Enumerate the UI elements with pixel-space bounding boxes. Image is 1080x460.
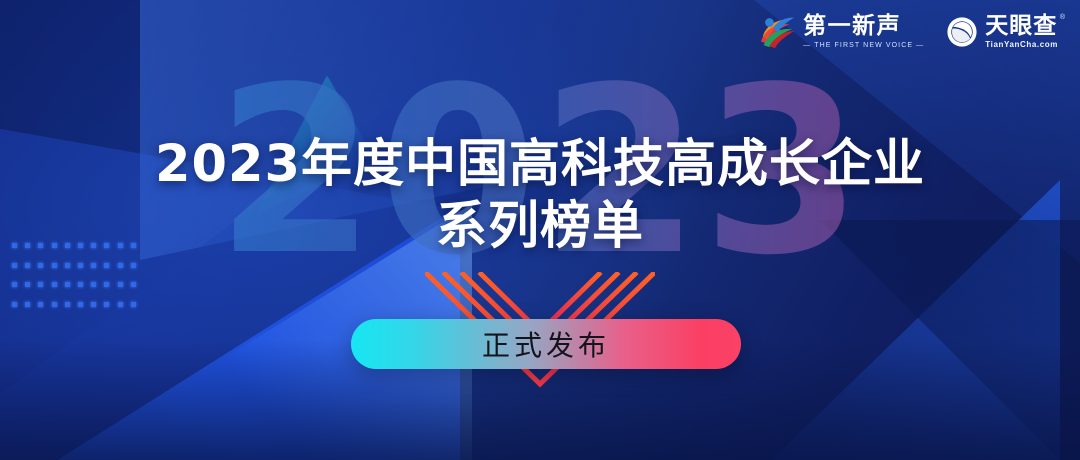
- grid-dot: [25, 302, 30, 307]
- grid-dot: [118, 282, 123, 287]
- logo-diyixinsheng[interactable]: 第一新声 — THE FIRST NEW VOICE —: [758, 14, 924, 50]
- grid-dot: [65, 302, 70, 307]
- grid-dot: [131, 302, 136, 307]
- grid-dot: [131, 263, 136, 268]
- logo-tagline-en: — THE FIRST NEW VOICE —: [803, 42, 924, 49]
- release-status-label: 正式发布: [482, 324, 610, 364]
- logo-row: 第一新声 — THE FIRST NEW VOICE — 天眼查 ® TianY…: [758, 14, 1058, 50]
- trademark-symbol: ®: [1060, 14, 1065, 21]
- grid-dot: [78, 282, 83, 287]
- grid-dot: [91, 263, 96, 268]
- page-title: 2023年度中国高科技高成长企业 系列榜单: [0, 134, 1080, 258]
- grid-dot: [38, 263, 43, 268]
- grid-dot: [52, 263, 57, 268]
- title-line-1: 2023年度中国高科技高成长企业: [0, 134, 1080, 196]
- logo-name-cn: 第一新声: [803, 15, 924, 38]
- grid-dot: [91, 282, 96, 287]
- logo-tagline-en: TianYanCha.com: [985, 41, 1058, 49]
- grid-dot: [52, 282, 57, 287]
- grid-dot: [118, 263, 123, 268]
- grid-dot: [12, 263, 17, 268]
- grid-dot: [25, 263, 30, 268]
- grid-dot: [52, 302, 57, 307]
- swirl-ribbon-icon: [758, 14, 796, 50]
- logo-tianyancha[interactable]: 天眼查 ® TianYanCha.com: [946, 15, 1058, 49]
- grid-dot: [78, 302, 83, 307]
- logo-name-cn: 天眼查: [985, 15, 1058, 38]
- grid-dot: [12, 282, 17, 287]
- grid-dot: [104, 302, 109, 307]
- grid-dot: [131, 282, 136, 287]
- grid-dot: [104, 282, 109, 287]
- release-status-badge[interactable]: 正式发布: [351, 319, 741, 369]
- grid-dot: [65, 282, 70, 287]
- promo-banner: 2023: [0, 0, 1080, 460]
- grid-dot: [118, 302, 123, 307]
- grid-dot: [91, 302, 96, 307]
- camera-lens-eye-icon: [946, 16, 978, 48]
- grid-dot: [78, 263, 83, 268]
- title-line-2: 系列榜单: [0, 196, 1080, 258]
- grid-dot: [38, 302, 43, 307]
- grid-dot: [104, 263, 109, 268]
- grid-dot: [38, 282, 43, 287]
- grid-dot: [25, 282, 30, 287]
- grid-dot: [65, 263, 70, 268]
- grid-dot: [12, 302, 17, 307]
